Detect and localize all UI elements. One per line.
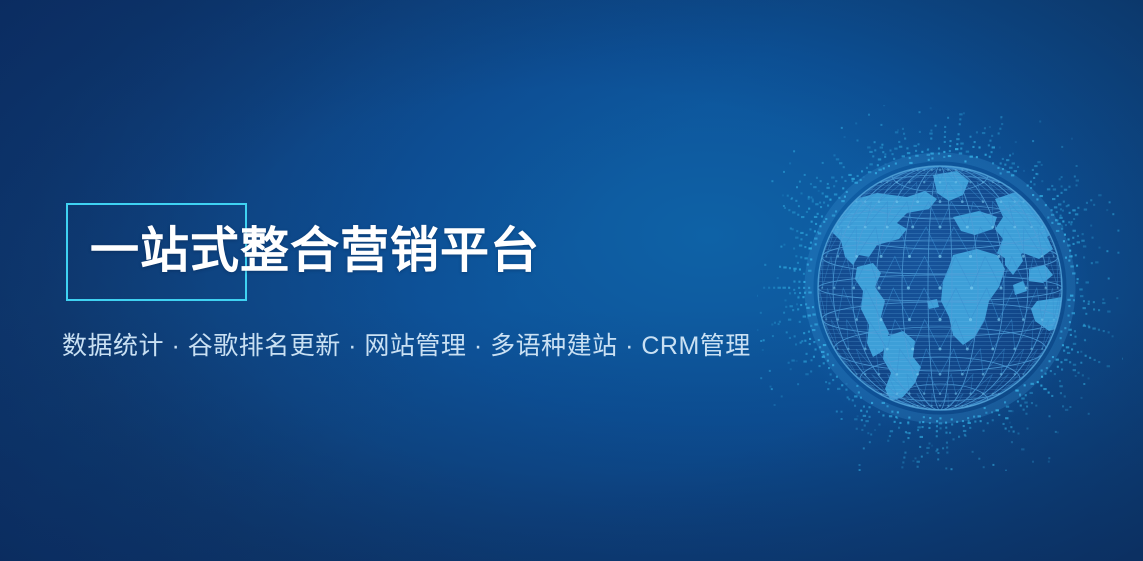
feature-list: 数据统计 · 谷歌排名更新 · 网站管理 · 多语种建站 · CRM管理 (62, 329, 751, 363)
page-title: 一站式整合营销平台 (90, 222, 540, 280)
marketing-banner: 一站式整合营销平台 数据统计 · 谷歌排名更新 · 网站管理 · 多语种建站 ·… (0, 0, 1143, 561)
globe-graphic (757, 105, 1123, 471)
